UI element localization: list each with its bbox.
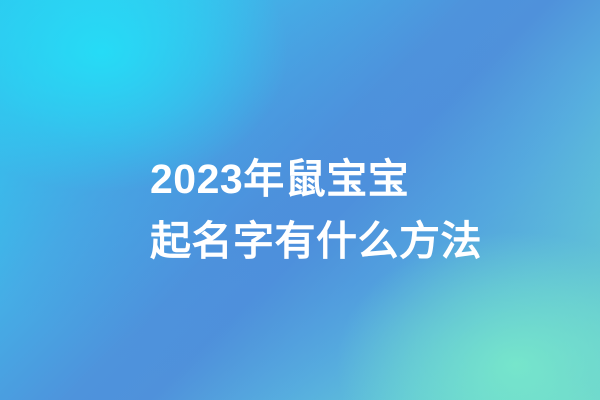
headline-line-2: 起名字有什么方法 xyxy=(150,210,570,272)
headline-line-1: 2023年鼠宝宝 xyxy=(150,148,570,210)
banner: 2023年鼠宝宝 起名字有什么方法 xyxy=(0,0,600,400)
headline-text-block: 2023年鼠宝宝 起名字有什么方法 xyxy=(150,148,570,272)
